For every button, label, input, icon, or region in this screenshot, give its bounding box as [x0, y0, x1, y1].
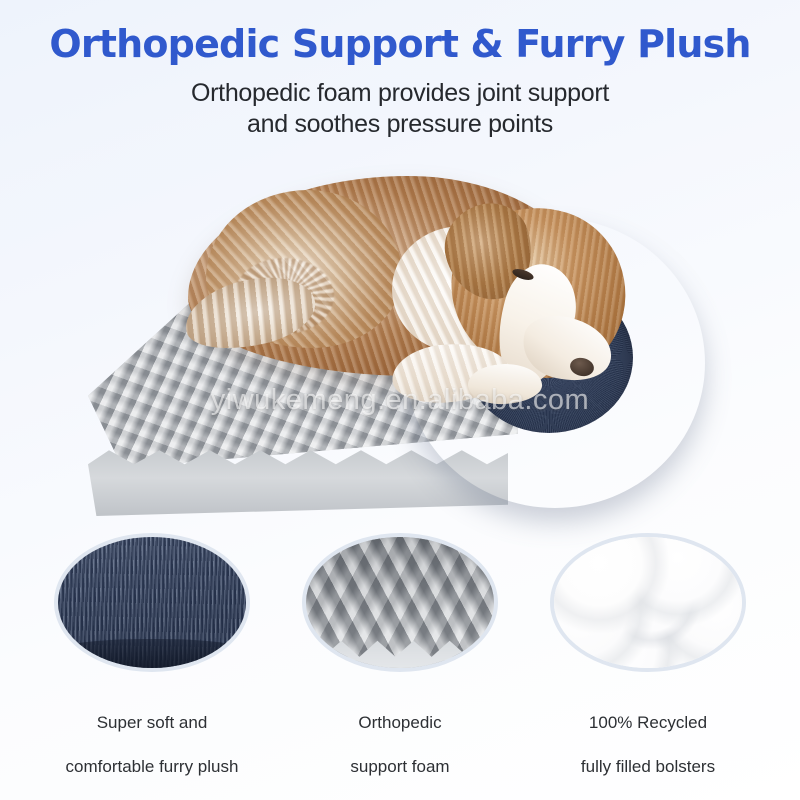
header: Orthopedic Support & Furry Plush Orthope… — [0, 0, 800, 140]
caption-line-2: support foam — [350, 756, 449, 778]
orthopedic-foam-swatch — [306, 537, 494, 668]
furry-plush-circle — [54, 533, 250, 672]
feature-item-foam: Orthopedic support foam — [300, 533, 500, 800]
page-title: Orthopedic Support & Furry Plush — [0, 22, 800, 66]
recycled-fiberfill-circle — [550, 533, 746, 672]
feature-list: Super soft and comfortable furry plush O… — [0, 533, 800, 800]
feature-item-plush: Super soft and comfortable furry plush — [52, 533, 252, 800]
subtitle-line-2: and soothes pressure points — [0, 109, 800, 140]
product-infographic: Orthopedic Support & Furry Plush Orthope… — [0, 0, 800, 800]
caption-line-1: Orthopedic — [350, 712, 449, 734]
caption-line-2: comfortable furry plush — [66, 756, 239, 778]
feature-caption-fiberfill: 100% Recycled fully filled bolsters — [581, 690, 715, 800]
caption-line-2: fully filled bolsters — [581, 756, 715, 778]
orthopedic-foam-circle — [302, 533, 498, 672]
sleeping-dog — [178, 168, 618, 428]
page-subtitle: Orthopedic foam provides joint support a… — [0, 78, 800, 140]
feature-caption-foam: Orthopedic support foam — [350, 690, 449, 800]
furry-plush-swatch — [58, 537, 246, 668]
caption-line-1: 100% Recycled — [581, 712, 715, 734]
hero-product-photo: yiwukemeng.en.alibaba.com — [0, 150, 800, 530]
recycled-fiberfill-swatch — [554, 537, 742, 668]
subtitle-line-1: Orthopedic foam provides joint support — [0, 78, 800, 109]
feature-item-fiberfill: 100% Recycled fully filled bolsters — [548, 533, 748, 800]
caption-line-1: Super soft and — [66, 712, 239, 734]
feature-caption-plush: Super soft and comfortable furry plush — [66, 690, 239, 800]
